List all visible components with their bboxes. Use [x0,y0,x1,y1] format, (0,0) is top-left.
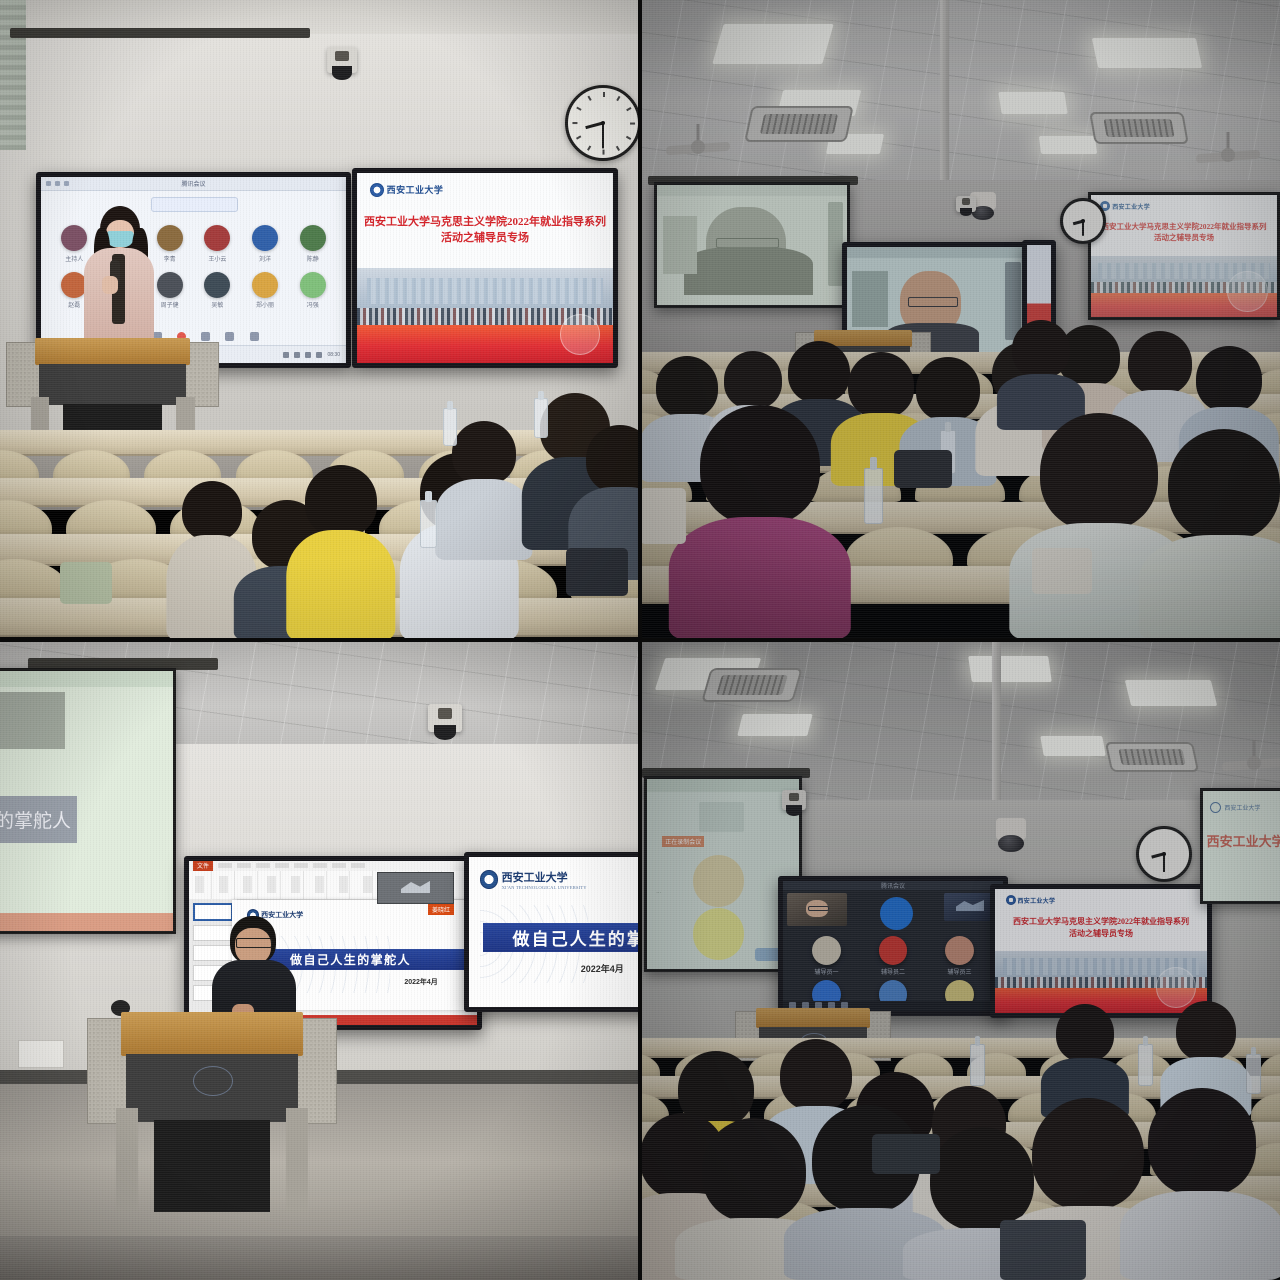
title-slide: 西安工业大学 西安工业大学马克思主义学院2022年就业指导系列 活动之辅导员专场… [1091,195,1277,317]
participant-tile[interactable]: 冯强 [292,272,334,315]
podium-desktop [121,1012,303,1056]
university-seal-icon [480,870,499,889]
title-slide: 西安工业大学 西安工业大学马克思主义学院2022年就业指导系列 活动之辅导员专场… [357,173,613,363]
meeting-pip-video[interactable] [0,692,65,749]
ac-cassette-unit [1089,112,1189,144]
slide-date: 2022年4月 [469,962,624,975]
slide-heading: 做自己人生的掌舵人 [483,925,640,950]
participant-avatar [693,908,745,960]
wall-clock [1060,198,1106,244]
university-wordmark: 西安工业大学 [1224,803,1260,812]
participant-avatar [300,272,326,298]
participant-tile[interactable]: 辅导员二 [867,936,919,977]
university-wordmark: 西安工业大学 [1112,202,1150,211]
host-face-mask [106,231,134,247]
audience-member-foreground [700,442,820,640]
audience-member-foreground [1168,470,1280,640]
slide-red-footer [1091,293,1277,317]
collage-panel-top-right: 西安工业大学 西安工业大学马克思主义学院2022年就业指导系列 活动之辅导员专场… [640,0,1280,640]
podium-emblem [193,1066,233,1096]
meeting-titlebar: 腾讯会议 [783,881,1003,890]
projection-screen-right[interactable]: 西安工业大学 西安工业大学马克思主义学院2022年就业指导系列 活动之辅导员专场… [1088,192,1280,320]
ppt-status-bar [0,913,173,931]
ac-cassette-unit [1105,742,1199,772]
ceiling-fan [666,124,730,158]
support-pole [940,0,949,210]
participant-tile[interactable]: 刘洋 [244,225,286,268]
taskbar-clock: 08:30 [327,352,340,358]
meeting-window-title: 腾讯会议 [181,179,205,188]
helmsman-slide: 西安工业大学 XI'AN TECHNOLOGICAL UNIVERSITY 做自… [469,857,640,1007]
university-wordmark: 西安工业大学 [1017,896,1055,905]
audience-member [452,430,516,560]
meeting-sidebar[interactable] [828,202,843,286]
ceiling-camera-icon [428,704,462,732]
podium-desktop [35,338,191,365]
dome-camera-icon [996,818,1026,840]
participant-avatar [157,272,183,298]
avatar-highlight [880,897,913,930]
ceiling-light-panel [712,24,833,64]
participant-name: 辅导员三 [948,967,972,976]
wall-switch-plate[interactable] [18,1040,64,1068]
participant-name: … [656,889,661,895]
projection-screen-left[interactable]: 姜晓红 的掌舵人 月 [0,668,176,934]
participant-name: 辅导员二 [881,967,905,976]
participant-avatar [252,272,278,298]
water-bottle [420,500,437,548]
participant-avatar [204,225,230,251]
ceiling-camera-icon [782,790,806,810]
podium-leg-right [286,1108,308,1212]
background-shelf [852,271,888,327]
ceiling-light-panel [1039,136,1098,154]
meeting-titlebar [647,779,799,792]
ceiling-light-panel [737,714,812,736]
participant-avatar [812,936,841,965]
speaker-glasses [236,938,272,948]
ac-cassette-unit [701,668,803,702]
background-shelf [663,216,697,274]
smart-display-right[interactable]: 西安工业大学 西安工业大学马克思主义学院2022年就业指导系列 活动之辅导员专场… [990,884,1212,1018]
participant-avatar [945,936,974,965]
university-wordmark-en: XI'AN TECHNOLOGICAL UNIVERSITY [502,885,587,890]
smart-display-right[interactable]: 西安工业大学 XI'AN TECHNOLOGICAL UNIVERSITY 做自… [464,852,640,1012]
podium-leg-left [116,1108,138,1212]
university-seal-icon [1210,802,1221,813]
participant-avatar [157,225,183,251]
slide-heading-partial: 的掌舵人 [0,806,77,833]
recording-badge: 正在录制会议 [662,836,704,847]
participant-grid: 辅导员一辅导员二辅导员三辅导员四辅导员五辅导员六 [801,936,986,996]
audience-member [1012,340,1070,430]
audience-member [305,462,377,640]
slide-heading: 西安工业大学马克思主义学院2022年就业指导系列 活动之辅导员专场 [357,215,613,247]
participant-tile[interactable]: 辅导员一 [801,936,853,977]
university-logo: 西安工业大学 XI'AN TECHNOLOGICAL UNIVERSITY [480,869,587,890]
slide-title-band: 做自己人生的掌舵人 [483,923,640,952]
pip-name-label: 姜晓红 [428,904,454,915]
slide-heading-line1: 西安工业大学马克思主义学院2022年就业指导系列 [1091,222,1277,233]
ceiling-camera-icon [327,47,357,73]
collage-panel-bottom-left: 姜晓红 的掌舵人 月 文件 [0,640,640,1280]
participant-avatar [300,225,326,251]
blind-slats [0,0,26,150]
participant-name: 辅导员一 [814,967,838,976]
podium-desktop [756,1008,870,1028]
ceiling-light-panel [998,92,1067,114]
collage-panel-bottom-right: 正在录制会议 … 腾讯会议 辅导员一 [640,640,1280,1280]
smart-display-right[interactable]: 西安工业大学 西安工业大学马克思主义学院2022年就业指导系列 活动之辅导员专场… [352,168,618,368]
podium-panel [39,364,187,405]
university-logo: 西安工业大学 [1210,802,1260,813]
ceiling-fan [1196,132,1260,166]
water-bottle [443,408,457,446]
university-logo: 西安工业大学 [1100,201,1150,211]
remote-speaker-glasses [908,297,958,308]
participant-tile[interactable]: 郑小丽 [244,272,286,315]
meeting-window-title: 腾讯会议 [881,881,905,890]
ceiling-light-panel [1125,680,1217,706]
backpack [566,548,628,596]
shared-window-titlebar [0,671,173,687]
audience-member-foreground [1148,1136,1256,1280]
tote-bag [640,488,686,544]
tote-bag [1032,548,1092,594]
participant-avatar [204,272,230,298]
participant-name: 吴敏 [211,300,223,309]
university-seal-icon [370,183,384,197]
participant-tile[interactable]: 吴敏 [196,272,238,315]
slide-heading-line2: 活动之辅导员专场 [1091,233,1277,244]
participant-name: 周子健 [161,300,179,309]
front-step [0,1236,640,1280]
photo-collage: 腾讯会议 主持人张小明李青王小云刘洋陈静赵磊孙慧周子健吴敏郑小丽冯强 08:30 [0,0,1280,1280]
slide-heading: 西安工业大学马克思主义学院2022年就业指导系列 活动之辅导员专场 [995,916,1207,939]
participant-tile[interactable]: 王小云 [196,225,238,268]
water-bottle [970,1044,985,1086]
participant-name: 王小云 [208,254,226,263]
ceiling-light-panel [968,656,1052,682]
backpack [894,450,952,488]
university-logo: 西安工业大学 [370,183,444,197]
backpack [872,1134,940,1174]
ceiling-fan [1224,740,1280,772]
slide-heading-line1: 西安工业大学马克思主义学院2022年就业指导系列 [995,916,1207,928]
meeting-window-dark[interactable]: 腾讯会议 辅导员一辅导员二辅导员三辅导员四辅导员五辅导员六 [783,881,1003,1011]
self-video-tile[interactable] [787,893,846,927]
host-hand [102,276,118,294]
participant-avatar [699,802,745,832]
participant-avatar [693,855,745,907]
shared-window-titlebar [657,185,847,196]
slide-red-footer [357,325,613,363]
meeting-titlebar: 腾讯会议 [41,177,346,191]
ceiling-light-panel [1092,38,1202,68]
ceiling-light-panel [1040,736,1106,756]
participant-name: 刘洋 [259,254,271,263]
wall-clock [565,85,640,161]
meeting-pip-video[interactable] [377,872,454,904]
participant-name: 陈静 [307,254,319,263]
slide-heading-line1: 西安工业大学马克思主义学院2022年就业指导系列 [357,215,613,231]
water-bottle [1138,1044,1153,1086]
podium-pedestal [154,1120,269,1212]
slide-heading-partial: 西安工业大学 [1207,831,1280,850]
ac-cassette-unit [744,106,854,142]
slide-heading-line2: 活动之辅导员专场 [357,231,613,247]
slide-heading-line2: 活动之辅导员专场 [995,928,1207,940]
water-bottle [1246,1054,1261,1094]
window-controls[interactable] [46,177,69,190]
participant-tile[interactable]: 陈静 [292,225,334,268]
tote-bag [60,562,112,604]
wall-clock [1136,826,1192,882]
university-wordmark: 西安工业大学 XI'AN TECHNOLOGICAL UNIVERSITY [502,869,587,890]
projection-screen-left[interactable] [654,182,850,308]
smart-display-left[interactable]: 腾讯会议 辅导员一辅导员二辅导员三辅导员四辅导员五辅导员六 [778,876,1008,1016]
participant-name: 李青 [164,254,176,263]
projector-screen-case [10,28,310,38]
university-logo: 西安工业大学 [1006,895,1056,905]
university-wordmark: 西安工业大学 [387,183,444,196]
participant-avatar [252,225,278,251]
collage-panel-top-left: 腾讯会议 主持人张小明李青王小云刘洋陈静赵磊孙慧周子健吴敏郑小丽冯强 08:30 [0,0,640,640]
drink-cup [864,468,883,524]
water-bottle [534,398,548,438]
participant-name: 冯强 [307,300,319,309]
meeting-titlebar [847,247,1025,258]
collage-divider-horizontal [0,638,1280,642]
participant-avatar [879,936,908,965]
university-wordmark-cn: 西安工业大学 [502,872,568,884]
participant-name: 郑小丽 [256,300,274,309]
remote-speaker-torso [684,247,813,295]
participant-tile[interactable]: 辅导员三 [934,936,986,977]
projection-screen-right[interactable]: 西安工业大学 西安工业大学 [1200,788,1280,904]
slide-heading: 西安工业大学马克思主义学院2022年就业指导系列 活动之辅导员专场 [1091,222,1277,244]
ppt-tab-bar[interactable]: 文件 [189,861,477,871]
title-slide: 西安工业大学 西安工业大学马克思主义学院2022年就业指导系列 活动之辅导员专场… [995,889,1207,1013]
university-seal-icon [1006,895,1016,905]
backpack [1000,1220,1086,1280]
lectern-podium [92,1012,332,1212]
search-input[interactable] [151,197,238,212]
ceiling-camera-icon [956,196,976,212]
